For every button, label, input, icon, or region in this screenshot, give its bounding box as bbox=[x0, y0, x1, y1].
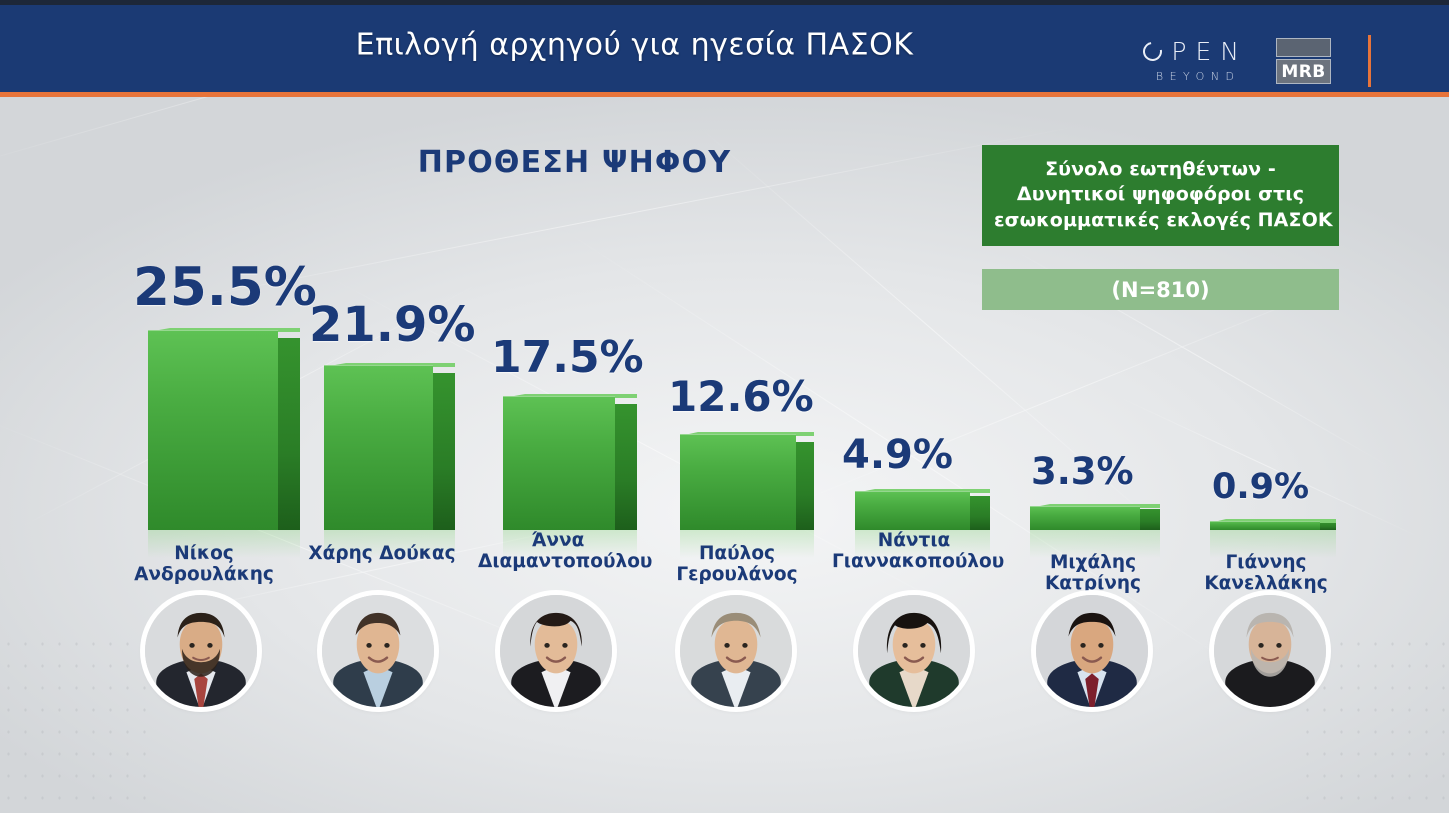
bar-value-label: 4.9% bbox=[842, 435, 953, 475]
candidate-portrait bbox=[322, 595, 434, 707]
candidate-name-label: Άννα Διαμαντοπούλου bbox=[478, 531, 638, 572]
candidate-portrait bbox=[1214, 595, 1326, 707]
bar-side-face bbox=[1140, 509, 1160, 530]
candidate-name-label: Παύλος Γερουλάνος bbox=[645, 544, 829, 585]
open-beyond-logo: PEN BEYOND bbox=[1143, 39, 1248, 83]
bar-chart: 25.5%Νίκος Ανδρουλάκης 21.9%Χάρης Δούκας… bbox=[0, 97, 1449, 813]
bar-front-face bbox=[1030, 506, 1140, 530]
open-o-glyph-icon bbox=[1140, 38, 1166, 64]
bar-front-face bbox=[855, 491, 970, 530]
candidate-portrait bbox=[680, 595, 792, 707]
candidate-name-label: Νάντια Γιαννακοπούλου bbox=[832, 531, 996, 572]
bar-side-face bbox=[615, 404, 637, 530]
candidate-portrait bbox=[1036, 595, 1148, 707]
open-logo-subtitle: BEYOND bbox=[1151, 70, 1241, 83]
chart-stage: ΠΡΟΘΕΣΗ ΨΗΦΟΥ Σύνολο εωτηθέντων - Δυνητι… bbox=[0, 97, 1449, 813]
candidate-portrait bbox=[858, 595, 970, 707]
candidate-portrait bbox=[145, 595, 257, 707]
bar-value-label: 3.3% bbox=[1031, 453, 1134, 490]
bar-value-label: 17.5% bbox=[491, 336, 644, 380]
bar-side-face bbox=[433, 373, 455, 530]
bar-value-label: 0.9% bbox=[1212, 470, 1309, 505]
candidate-name-label: Νίκος Ανδρουλάκης bbox=[118, 544, 290, 585]
bar-side-face bbox=[796, 442, 814, 530]
bar-value-label: 25.5% bbox=[133, 261, 317, 314]
candidate-portrait bbox=[500, 595, 612, 707]
bar-side-face bbox=[1320, 522, 1336, 530]
mrb-logo: MRB bbox=[1276, 38, 1331, 84]
candidate-name-label: Μιχάλης Κατρίνης bbox=[1007, 553, 1179, 594]
bar-value-label: 12.6% bbox=[668, 376, 814, 418]
bar-side-face bbox=[278, 338, 300, 530]
mrb-logo-upper-block bbox=[1276, 38, 1331, 57]
bar-front-face bbox=[1210, 521, 1320, 530]
bar-front-face bbox=[324, 365, 433, 530]
bar-side-face bbox=[970, 496, 990, 530]
broadcaster-logos: PEN BEYOND MRB bbox=[1143, 35, 1371, 87]
open-logo-wordmark: PEN bbox=[1143, 39, 1248, 64]
bar-front-face bbox=[503, 396, 615, 530]
program-header-bar: Επιλογή αρχηγού για ηγεσία ΠΑΣΟΚ PEN BEY… bbox=[0, 5, 1449, 92]
candidate-name-label: Γιάννης Κανελλάκης bbox=[1174, 553, 1358, 594]
bar-value-label: 21.9% bbox=[309, 301, 476, 349]
candidate-name-label: Χάρης Δούκας bbox=[306, 544, 458, 565]
bar-front-face bbox=[148, 330, 278, 530]
orange-accent-bar bbox=[1368, 35, 1371, 87]
mrb-logo-wordmark: MRB bbox=[1276, 59, 1331, 84]
bar-front-face bbox=[680, 434, 796, 530]
